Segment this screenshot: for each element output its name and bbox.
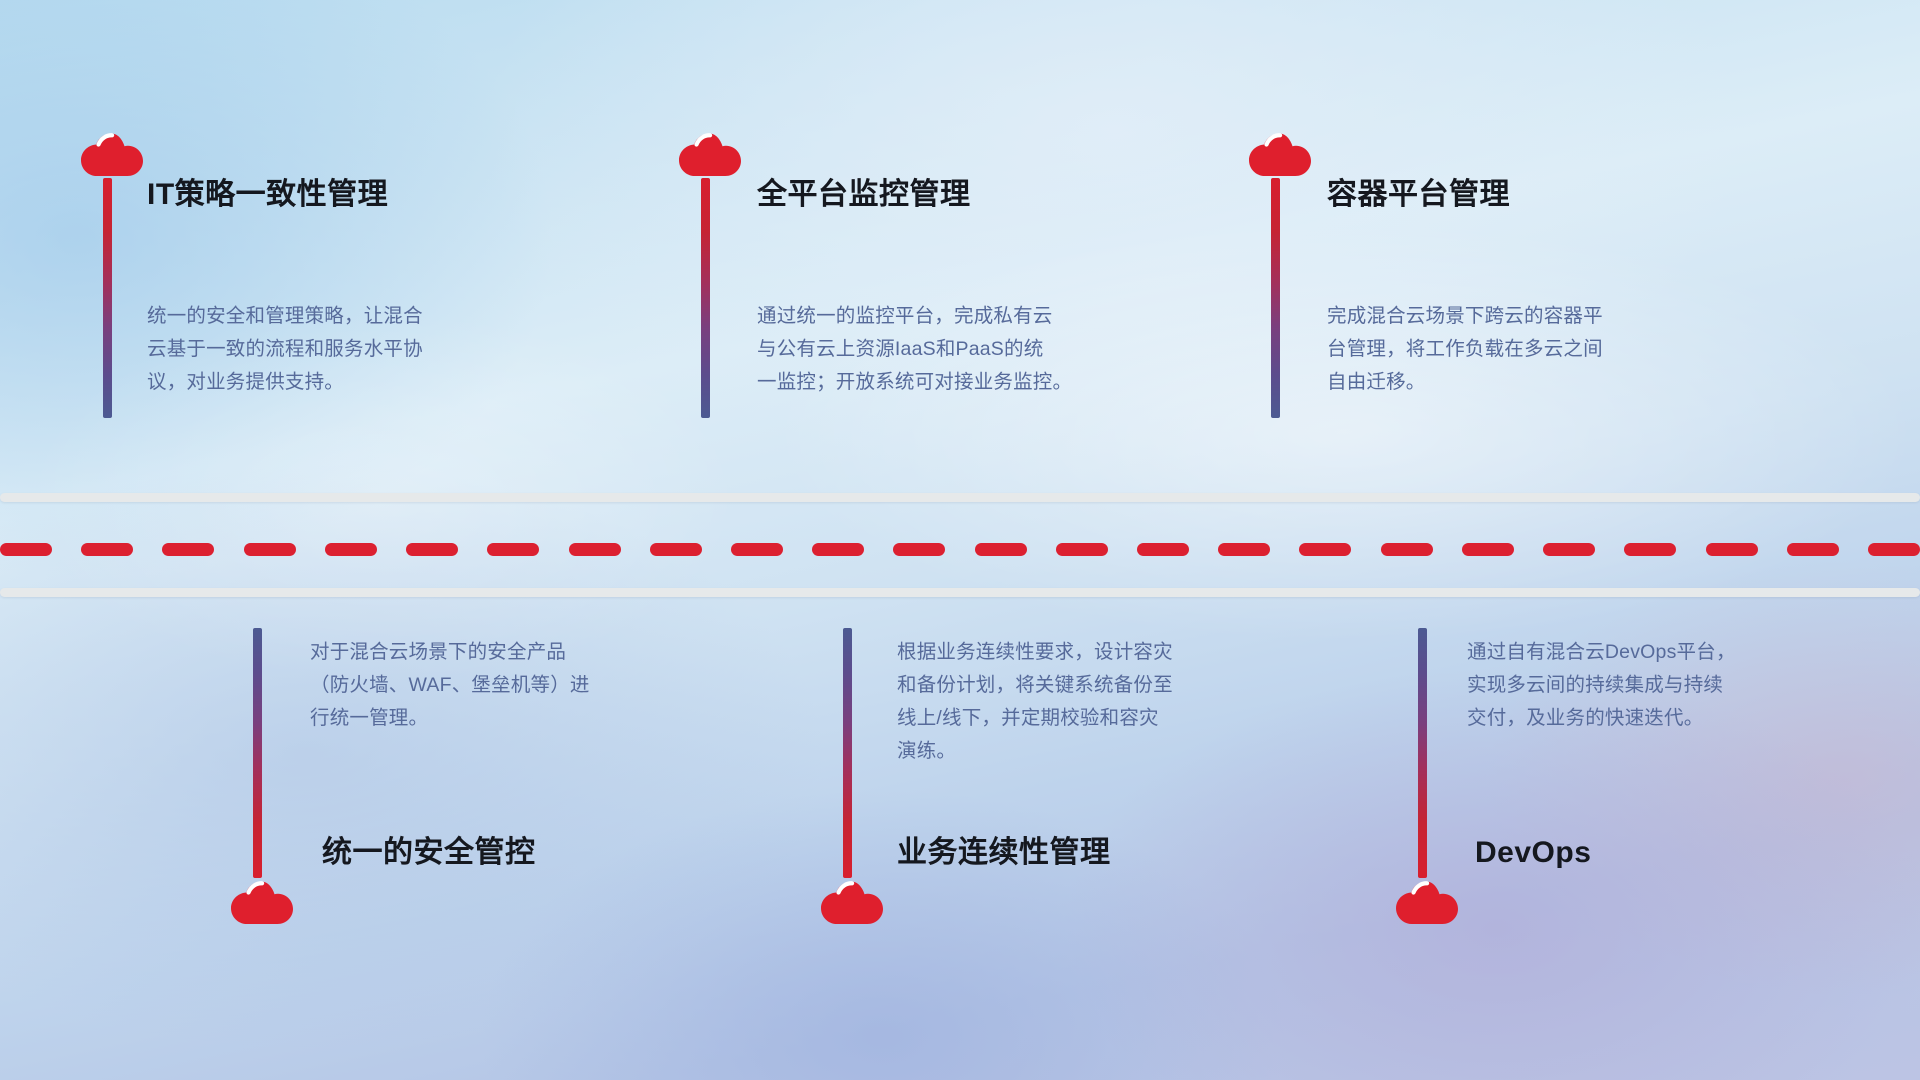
divider-rule-top [0,493,1920,502]
card-body: 根据业务连续性要求，设计容灾 和备份计划，将关键系统备份至 线上/线下，并定期校… [897,636,1287,768]
node-stem [701,178,710,418]
timeline-dash [81,543,133,556]
timeline-dash [893,543,945,556]
cloud-icon [225,878,297,930]
node-stem [253,628,262,878]
timeline-dash [975,543,1027,556]
timeline-dash [244,543,296,556]
divider-rule-bottom [0,588,1920,597]
timeline-dash [1543,543,1595,556]
timeline-dash [1868,543,1920,556]
card-title: DevOps [1475,836,1591,869]
timeline-dash [1462,543,1514,556]
timeline-dash [0,543,52,556]
timeline-dash [325,543,377,556]
timeline-dash [1624,543,1676,556]
timeline-dash [1218,543,1270,556]
node-stem [1418,628,1427,878]
card-body: 统一的安全和管理策略，让混合 云基于一致的流程和服务水平协 议，对业务提供支持。 [147,300,527,399]
card-body: 通过统一的监控平台，完成私有云 与公有云上资源IaaS和PaaS的统 一监控；开… [757,300,1137,399]
cloud-icon [1390,878,1462,930]
timeline-dash [1381,543,1433,556]
timeline-dash [406,543,458,556]
node-stem [843,628,852,878]
timeline-dash [1787,543,1839,556]
timeline-dash [650,543,702,556]
timeline-dash [812,543,864,556]
card-bottom-1: 对于混合云场景下的安全产品 （防火墙、WAF、堡垒机等）进 行统一管理。 统一的… [310,636,710,886]
timeline-dash [162,543,214,556]
timeline-dash [1137,543,1189,556]
cloud-icon [815,878,887,930]
card-title: 统一的安全管控 [322,836,536,869]
timeline-dash [487,543,539,556]
timeline-dash [731,543,783,556]
card-title: 全平台监控管理 [757,178,971,211]
card-body: 对于混合云场景下的安全产品 （防火墙、WAF、堡垒机等）进 行统一管理。 [310,636,700,735]
timeline-dash [1299,543,1351,556]
node-stem [1271,178,1280,418]
card-title: IT策略一致性管理 [147,178,388,211]
dashed-timeline [0,543,1920,556]
card-body: 完成混合云场景下跨云的容器平 台管理，将工作负载在多云之间 自由迁移。 [1327,300,1707,399]
card-title: 业务连续性管理 [897,836,1111,869]
timeline-dash [1706,543,1758,556]
cloud-icon [673,130,745,182]
infographic-canvas: IT策略一致性管理 统一的安全和管理策略，让混合 云基于一致的流程和服务水平协 … [0,0,1920,1080]
card-title: 容器平台管理 [1327,178,1510,211]
timeline-dash [569,543,621,556]
card-body: 通过自有混合云DevOps平台， 实现多云间的持续集成与持续 交付，及业务的快速… [1467,636,1857,735]
card-bottom-3: 通过自有混合云DevOps平台， 实现多云间的持续集成与持续 交付，及业务的快速… [1467,636,1867,886]
timeline-dash [1056,543,1108,556]
cloud-icon [75,130,147,182]
node-stem [103,178,112,418]
card-bottom-2: 根据业务连续性要求，设计容灾 和备份计划，将关键系统备份至 线上/线下，并定期校… [897,636,1297,886]
cloud-icon [1243,130,1315,182]
